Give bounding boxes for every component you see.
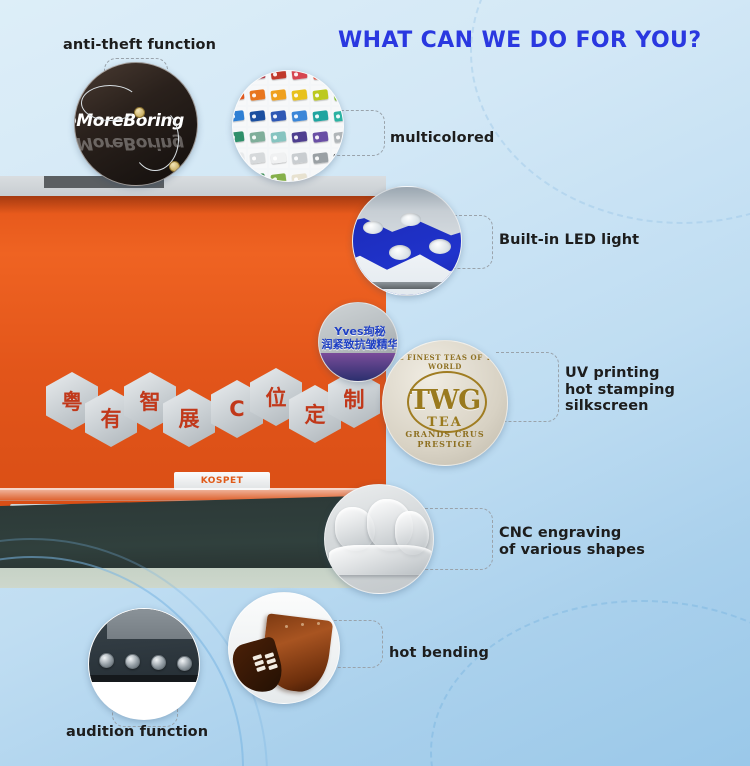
color-swatch <box>290 86 309 105</box>
led-base <box>353 282 461 289</box>
security-cable <box>81 85 139 121</box>
lock-icon <box>134 107 145 118</box>
color-swatch <box>248 86 267 105</box>
color-swatch <box>248 70 267 84</box>
color-swatch <box>248 107 267 126</box>
feature-label-hot-bending: hot bending <box>389 645 489 662</box>
color-swatch <box>248 128 267 147</box>
color-swatch <box>332 70 344 84</box>
color-swatch <box>269 107 288 126</box>
color-swatch <box>332 107 344 126</box>
color-swatch <box>232 70 246 84</box>
anti-theft-photo: oMoreBoring oMoreBoring <box>74 62 198 186</box>
color-swatch <box>248 170 267 182</box>
audition-button <box>99 653 114 668</box>
color-swatch <box>269 70 288 84</box>
color-swatch <box>290 107 309 126</box>
twg-wordmark: TWG <box>383 385 507 416</box>
cnc-engraving-photo <box>324 484 434 594</box>
hot-bending-photo <box>228 592 340 704</box>
feature-label-anti-theft: anti-theft function <box>63 37 216 54</box>
audio-panel-screen <box>107 608 193 639</box>
feature-label-multicolored: multicolored <box>390 130 494 147</box>
audition-button <box>177 656 192 671</box>
color-swatch <box>332 86 344 105</box>
twg-arc-bottom: GRANDS CRUS PRESTIGE <box>383 429 507 449</box>
hex-sign-row: 粤 有 智 展 C 位 定 制 <box>46 372 346 434</box>
audition-function-photo <box>88 608 200 720</box>
color-swatch <box>269 86 288 105</box>
color-swatch <box>269 128 288 147</box>
audio-panel-edge <box>88 675 200 682</box>
twg-sub-wordmark: TEA <box>383 415 507 430</box>
led-hole <box>363 221 383 234</box>
audition-button <box>125 654 140 669</box>
color-swatch <box>290 128 309 147</box>
color-swatch <box>269 149 288 168</box>
decor-arc <box>430 600 750 766</box>
color-swatch <box>232 170 246 182</box>
color-swatch <box>311 149 330 168</box>
infographic-poster: WHAT CAN WE DO FOR YOU? 粤 有 智 展 C 位 定 制 … <box>0 0 750 766</box>
color-swatch <box>232 149 246 168</box>
color-swatch <box>311 170 330 182</box>
page-title: WHAT CAN WE DO FOR YOU? <box>338 26 738 56</box>
color-swatch <box>290 149 309 168</box>
color-swatch-grid <box>232 70 344 182</box>
color-swatch <box>311 70 330 84</box>
color-swatch <box>332 170 344 182</box>
feature-label-uv-printing: UV printing hot stamping silkscreen <box>565 365 675 415</box>
color-swatch <box>232 128 246 147</box>
color-swatch <box>232 107 246 126</box>
engraved-relief <box>329 545 433 575</box>
color-swatch <box>290 170 309 182</box>
yves-print-line2: 润紧致抗皱精华 <box>321 336 398 352</box>
twg-hot-stamping-photo: THE FINEST TEAS OF THE WORLD TWG TEA GRA… <box>382 340 508 466</box>
feature-label-cnc: CNC engraving of various shapes <box>499 525 645 558</box>
lock-icon <box>169 161 180 172</box>
color-swatch <box>332 128 344 147</box>
multicolored-swatch-photo <box>232 70 344 182</box>
twg-arc-top: THE FINEST TEAS OF THE WORLD <box>383 353 507 371</box>
color-swatch <box>311 107 330 126</box>
feature-label-led: Built-in LED light <box>499 232 639 249</box>
led-hole <box>400 213 421 226</box>
color-swatch <box>269 170 288 182</box>
color-swatch <box>332 149 344 168</box>
led-hole <box>429 239 451 254</box>
led-hole <box>389 245 411 260</box>
color-swatch <box>248 149 267 168</box>
color-swatch <box>290 70 309 84</box>
color-swatch <box>311 128 330 147</box>
photo-wall-shadow <box>0 196 386 214</box>
led-light-photo <box>352 186 462 296</box>
color-swatch <box>311 86 330 105</box>
feature-label-audition: audition function <box>66 724 208 741</box>
audition-button <box>151 655 166 670</box>
color-swatch <box>232 86 246 105</box>
